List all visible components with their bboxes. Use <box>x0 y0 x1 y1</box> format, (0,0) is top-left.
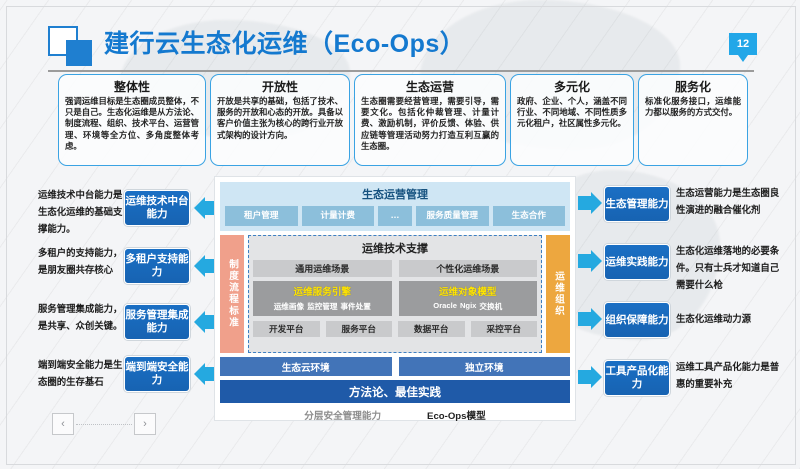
left-capability-text: 端到端安全能力是生态圈的生存基石 <box>38 356 130 390</box>
environment-row: 生态云环境 独立环境 <box>220 357 570 376</box>
concept-card: 整体性 强调运维目标是生态圈成员整体，不只是自己。生态化运维是从方法论、制度流程… <box>58 74 206 166</box>
operation-chip-row: 租户管理 计量计费 … 服务质量管理 生态合作 <box>225 206 565 226</box>
concept-card-body: 开放是共享的基础，包括了技术、服务的开放和心态的开放。具备以客户价值主张为核心的… <box>217 96 343 141</box>
concept-card: 服务化 标准化服务接口，运维能力都以服务的方式交付。 <box>638 74 748 166</box>
engine-items: Oracle Ngix 交换机 <box>401 301 536 312</box>
organization-vertical-bar: 运维组织 <box>546 235 570 353</box>
left-capability-box[interactable]: 服务管理集成能力 <box>124 304 190 340</box>
arrow-right-icon <box>578 308 602 330</box>
left-capability-text: 运维技术中台能力是生态化运维的基础支撑能力。 <box>38 186 130 237</box>
concept-card-body: 生态圈需要经营管理，需要引导，需要文化。包括化仲裁管理、计量计费、激励机制，评价… <box>361 96 499 152</box>
concept-card-title: 开放性 <box>217 80 343 95</box>
model-captions: 分层安全管理能力 Eco-Ops模型 <box>220 408 570 422</box>
arrow-right-icon <box>578 366 602 388</box>
model-name-caption: Eco-Ops模型 <box>427 408 486 422</box>
left-capability-box[interactable]: 多租户支持能力 <box>124 248 190 284</box>
operation-management-title: 生态运营管理 <box>225 186 565 202</box>
operation-chip[interactable]: 租户管理 <box>225 206 298 226</box>
right-capability-text: 生态化运维动力源 <box>676 310 780 327</box>
concept-card-title: 生态运营 <box>361 80 499 95</box>
left-capability-box[interactable]: 运维技术中台能力 <box>124 190 190 226</box>
concept-card: 多元化 政府、企业、个人，涵盖不同行业、不同地域、不同性质多元化租户，社区属性多… <box>510 74 634 166</box>
operation-chip-ellipsis[interactable]: … <box>378 206 412 226</box>
standards-vertical-bar: 制度流程标准 <box>220 235 244 353</box>
engine-box[interactable]: 运维服务引擎 运维画像 监控管理 事件处置 <box>253 281 392 316</box>
platform-row: 开发平台 服务平台 数据平台 采控平台 <box>253 321 537 337</box>
engine-item: Ngix <box>460 301 476 312</box>
engine-box[interactable]: 运维对象模型 Oracle Ngix 交换机 <box>399 281 538 316</box>
right-capability-box[interactable]: 生态管理能力 <box>604 186 670 222</box>
engine-item: Oracle <box>433 301 457 312</box>
tech-support-title: 运维技术支撑 <box>253 240 537 256</box>
tech-column: 个性化运维场景 运维对象模型 Oracle Ngix 交换机 <box>399 260 538 316</box>
page-number-badge: 12 <box>729 33 757 55</box>
concept-card-title: 多元化 <box>517 80 627 95</box>
slide-canvas: 建行云生态化运维（Eco-Ops） 12 整体性 强调运维目标是生态圈成员整体，… <box>0 0 800 469</box>
right-capability-box[interactable]: 组织保障能力 <box>604 302 670 338</box>
scene-box[interactable]: 个性化运维场景 <box>399 260 538 277</box>
concept-card-body: 强调运维目标是生态圈成员整体，不只是自己。生态化运维是从方法论、制度流程、组织、… <box>65 96 199 152</box>
tech-support-columns: 通用运维场景 运维服务引擎 运维画像 监控管理 事件处置 个性化运维场景 <box>253 260 537 316</box>
right-capability-box[interactable]: 运维实践能力 <box>604 244 670 280</box>
arrow-right-icon <box>578 250 602 272</box>
operation-management-band: 生态运营管理 租户管理 计量计费 … 服务质量管理 生态合作 <box>220 182 570 231</box>
tech-support-core: 运维技术支撑 通用运维场景 运维服务引擎 运维画像 监控管理 事件处置 <box>248 235 542 353</box>
engine-title: 运维服务引擎 <box>255 284 390 298</box>
environment-box[interactable]: 生态云环境 <box>220 357 392 376</box>
eco-ops-model: 生态运营管理 租户管理 计量计费 … 服务质量管理 生态合作 制度流程标准 运维… <box>214 176 576 421</box>
left-capability-text: 服务管理集成能力，是共享、众创关键。 <box>38 300 130 334</box>
concept-card-row: 整体性 强调运维目标是生态圈成员整体，不只是自己。生态化运维是从方法论、制度流程… <box>58 74 748 166</box>
methodology-base-bar: 方法论、最佳实践 <box>220 380 570 403</box>
security-caption: 分层安全管理能力 <box>304 408 381 422</box>
next-slide-button[interactable]: › <box>134 413 156 435</box>
engine-item: 事件处置 <box>340 301 370 312</box>
environment-box[interactable]: 独立环境 <box>399 357 571 376</box>
engine-item: 监控管理 <box>307 301 337 312</box>
platform-box[interactable]: 采控平台 <box>471 321 538 337</box>
engine-title: 运维对象模型 <box>401 284 536 298</box>
engine-items: 运维画像 监控管理 事件处置 <box>255 301 390 312</box>
operation-chip[interactable]: 服务质量管理 <box>416 206 489 226</box>
right-capability-text: 运维工具产品化能力是普惠的重要补充 <box>676 358 780 392</box>
operation-chip[interactable]: 计量计费 <box>302 206 375 226</box>
engine-item: 交换机 <box>479 301 502 312</box>
slide-nav: ‹ › <box>52 413 162 439</box>
concept-card-body: 政府、企业、个人，涵盖不同行业、不同地域、不同性质多元化租户，社区属性多元化。 <box>517 96 627 130</box>
concept-card: 生态运营 生态圈需要经营管理，需要引导，需要文化。包括化仲裁管理、计量计费、激励… <box>354 74 506 166</box>
left-capability-text: 多租户的支持能力，是朋友圈共存核心 <box>38 244 130 278</box>
header-divider <box>48 70 754 72</box>
right-capability-text: 生态运营能力是生态圈良性演进的融合催化剂 <box>676 184 780 218</box>
concept-card: 开放性 开放是共享的基础，包括了技术、服务的开放和心态的开放。具备以客户价值主张… <box>210 74 350 166</box>
concept-card-title: 整体性 <box>65 80 199 95</box>
arrow-right-icon <box>578 192 602 214</box>
tech-column: 通用运维场景 运维服务引擎 运维画像 监控管理 事件处置 <box>253 260 392 316</box>
scene-box[interactable]: 通用运维场景 <box>253 260 392 277</box>
concept-card-body: 标准化服务接口，运维能力都以服务的方式交付。 <box>645 96 741 118</box>
prev-slide-button[interactable]: ‹ <box>52 413 74 435</box>
tech-support-row: 制度流程标准 运维技术支撑 通用运维场景 运维服务引擎 运维画像 监控管理 事件… <box>220 235 570 353</box>
right-capability-text: 生态化运维落地的必要条件。只有士兵才知道自己需要什么枪 <box>676 242 780 293</box>
logo-square-filled-icon <box>66 40 92 66</box>
operation-chip[interactable]: 生态合作 <box>493 206 566 226</box>
nav-connector <box>76 424 132 425</box>
engine-item: 运维画像 <box>274 301 304 312</box>
page-title: 建行云生态化运维（Eco-Ops） <box>104 24 465 60</box>
left-capability-box[interactable]: 端到端安全能力 <box>124 356 190 392</box>
platform-box[interactable]: 服务平台 <box>326 321 393 337</box>
right-capability-box[interactable]: 工具产品化能力 <box>604 360 670 396</box>
platform-box[interactable]: 开发平台 <box>253 321 320 337</box>
concept-card-title: 服务化 <box>645 80 741 95</box>
platform-box[interactable]: 数据平台 <box>398 321 465 337</box>
